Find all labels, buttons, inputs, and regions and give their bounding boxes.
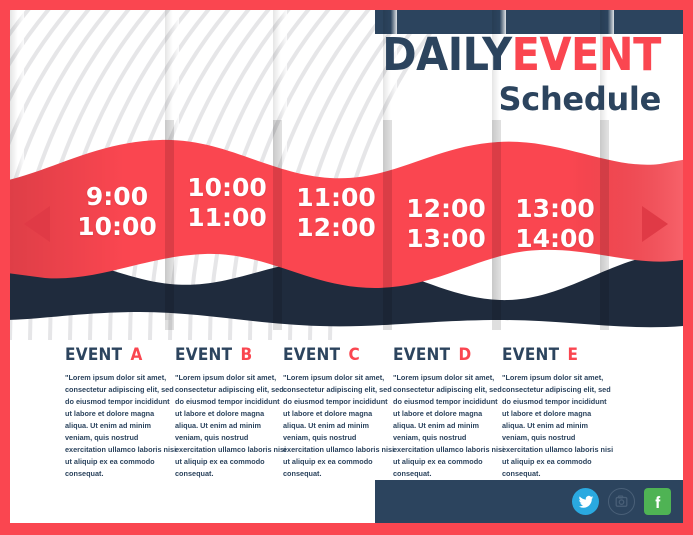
footer-bar <box>375 480 683 523</box>
time-slot-start: 9:00 <box>62 182 172 212</box>
event-letter: B <box>240 345 252 365</box>
event-title: EVENTB <box>175 345 276 365</box>
time-slot-5: 13:00 14:00 <box>500 194 610 253</box>
event-column-e: EVENTE "Lorem ipsum dolor sit amet, cons… <box>502 345 614 480</box>
event-label: EVENT <box>283 345 340 365</box>
event-letter: C <box>348 345 360 365</box>
event-list: EVENTA "Lorem ipsum dolor sit amet, cons… <box>10 345 683 485</box>
time-slot-start: 11:00 <box>281 183 391 213</box>
twitter-icon[interactable] <box>572 488 599 515</box>
title-word-daily: DAILY <box>382 28 511 81</box>
event-label: EVENT <box>393 345 450 365</box>
event-description: "Lorem ipsum dolor sit amet, consectetur… <box>283 372 395 480</box>
title-subtitle: Schedule <box>358 83 661 115</box>
time-slot-end: 14:00 <box>500 224 610 254</box>
event-description: "Lorem ipsum dolor sit amet, consectetur… <box>502 372 614 480</box>
arrow-left-icon[interactable] <box>24 206 50 242</box>
event-title: EVENTD <box>393 345 494 365</box>
time-slot-4: 12:00 13:00 <box>391 194 501 253</box>
time-slot-end: 12:00 <box>281 213 391 243</box>
time-slot-1: 9:00 10:00 <box>62 182 172 241</box>
time-slot-start: 13:00 <box>500 194 610 224</box>
time-slot-start: 10:00 <box>172 173 282 203</box>
event-label: EVENT <box>175 345 232 365</box>
time-slot-3: 11:00 12:00 <box>281 183 391 242</box>
event-column-a: EVENTA "Lorem ipsum dolor sit amet, cons… <box>65 345 177 480</box>
poster-canvas: DAILYEVENT Schedule <box>10 10 683 523</box>
event-description: "Lorem ipsum dolor sit amet, consectetur… <box>175 372 287 480</box>
event-label: EVENT <box>502 345 559 365</box>
title-main-line: DAILYEVENT <box>382 32 661 77</box>
event-column-c: EVENTC "Lorem ipsum dolor sit amet, cons… <box>283 345 395 480</box>
event-title: EVENTA <box>65 345 166 365</box>
event-column-b: EVENTB "Lorem ipsum dolor sit amet, cons… <box>175 345 287 480</box>
event-letter: D <box>458 345 471 365</box>
social-links <box>572 488 671 515</box>
poster-root: DAILYEVENT Schedule <box>0 0 693 535</box>
event-column-d: EVENTD "Lorem ipsum dolor sit amet, cons… <box>393 345 505 480</box>
event-letter: E <box>567 345 578 365</box>
event-letter: A <box>130 345 142 365</box>
page-title: DAILYEVENT Schedule <box>358 32 661 115</box>
event-description: "Lorem ipsum dolor sit amet, consectetur… <box>393 372 505 480</box>
time-slot-end: 13:00 <box>391 224 501 254</box>
time-slot-2: 10:00 11:00 <box>172 173 282 232</box>
instagram-icon[interactable] <box>608 488 635 515</box>
event-description: "Lorem ipsum dolor sit amet, consectetur… <box>65 372 177 480</box>
event-title: EVENTC <box>283 345 384 365</box>
time-slot-end: 10:00 <box>62 212 172 242</box>
arrow-right-icon[interactable] <box>642 206 668 242</box>
event-title: EVENTE <box>502 345 603 365</box>
event-label: EVENT <box>65 345 122 365</box>
time-slot-end: 11:00 <box>172 203 282 233</box>
title-word-event: EVENT <box>512 28 661 81</box>
time-slot-start: 12:00 <box>391 194 501 224</box>
facebook-icon[interactable] <box>644 488 671 515</box>
